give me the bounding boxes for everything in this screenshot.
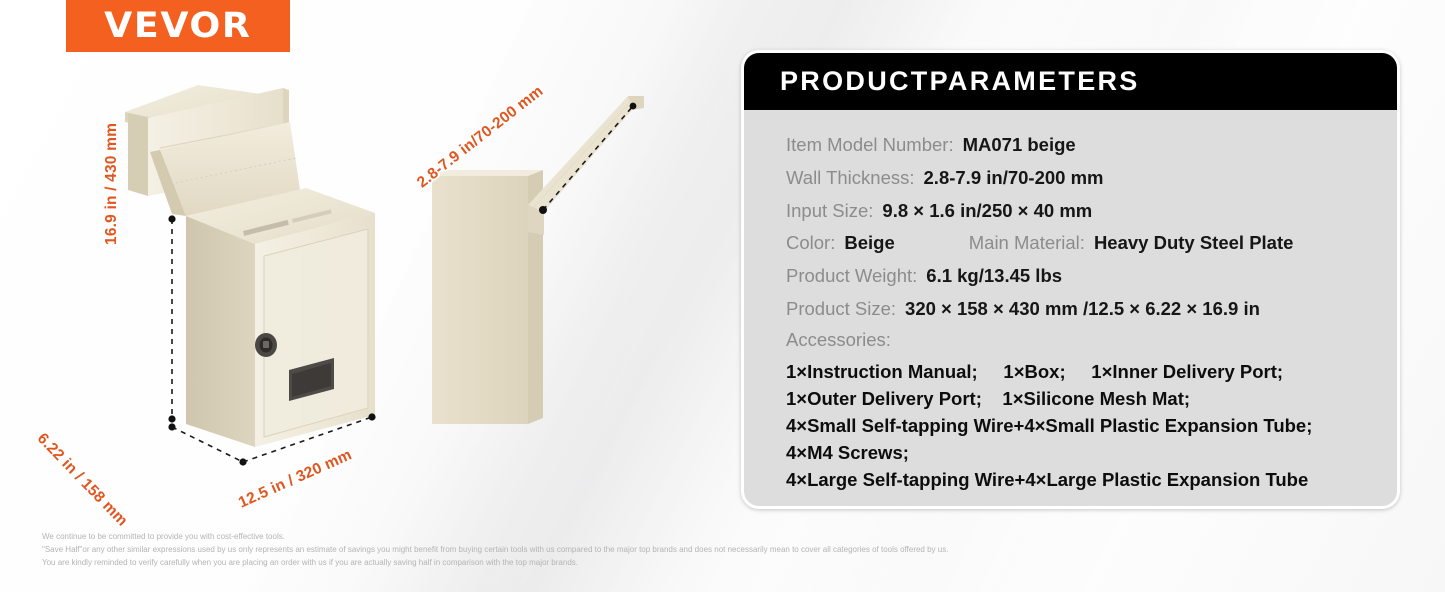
mailbox-lock-icon [255,333,277,357]
accessory-line: 4×Large Self-tapping Wire+4×Large Plasti… [786,466,1397,493]
accessory-line: 4×Small Self-tapping Wire+4×Small Plasti… [786,412,1397,439]
product-illustration [0,0,740,530]
spec-label-color: Color: [786,230,835,256]
mailbox-main-body [186,188,375,447]
spec-row-color-material: Color: Beige Main Material: Heavy Duty S… [786,230,1397,256]
spec-row-wall-thickness: Wall Thickness: 2.8-7.9 in/70-200 mm [786,165,1397,191]
accessories-label: Accessories: [786,329,1397,351]
spec-label: Product Size: [786,296,896,322]
spec-label-material: Main Material: [969,230,1085,256]
spec-value: 320 × 158 × 430 mm /12.5 × 6.22 × 16.9 i… [905,296,1260,322]
spec-value-material: Heavy Duty Steel Plate [1094,230,1293,256]
panel-body: Item Model Number: MA071 beige Wall Thic… [744,110,1397,493]
dimension-line-height [168,215,175,422]
accessory-line: 1×Instruction Manual; 1×Box; 1×Inner Del… [786,358,1397,385]
spec-row-weight: Product Weight: 6.1 kg/13.45 lbs [786,263,1397,289]
spec-label: Input Size: [786,198,873,224]
disclaimer-line-2: "Save Half"or any other similar expressi… [42,544,1342,557]
spec-row-product-size: Product Size: 320 × 158 × 430 mm /12.5 ×… [786,296,1397,322]
spec-value: MA071 beige [963,132,1076,158]
spec-row-input-size: Input Size: 9.8 × 1.6 in/250 × 40 mm [786,198,1397,224]
disclaimer-line-1: We continue to be committed to provide y… [42,531,1342,544]
panel-title: PRODUCTPARAMETERS [780,66,1140,97]
disclaimer-line-3: You are kindly reminded to verify carefu… [42,557,1342,570]
panel-header: PRODUCTPARAMETERS [744,53,1397,110]
spec-label: Product Weight: [786,263,917,289]
spec-row-model: Item Model Number: MA071 beige [786,132,1397,158]
spec-value: 9.8 × 1.6 in/250 × 40 mm [882,198,1092,224]
spec-value-color: Beige [844,230,894,256]
spec-value: 6.1 kg/13.45 lbs [926,263,1062,289]
spec-label: Item Model Number: [786,132,954,158]
product-spec-image: VEVOR [0,0,1445,592]
accessory-line: 1×Outer Delivery Port; 1×Silicone Mesh M… [786,385,1397,412]
accessory-line: 4×M4 Screws; [786,439,1397,466]
disclaimer: We continue to be committed to provide y… [42,531,1342,570]
dimension-label-height: 16.9 in / 430 mm [103,123,121,245]
spec-value: 2.8-7.9 in/70-200 mm [924,165,1104,191]
spec-label: Wall Thickness: [786,165,915,191]
product-parameters-panel: PRODUCTPARAMETERS Item Model Number: MA0… [741,50,1400,509]
